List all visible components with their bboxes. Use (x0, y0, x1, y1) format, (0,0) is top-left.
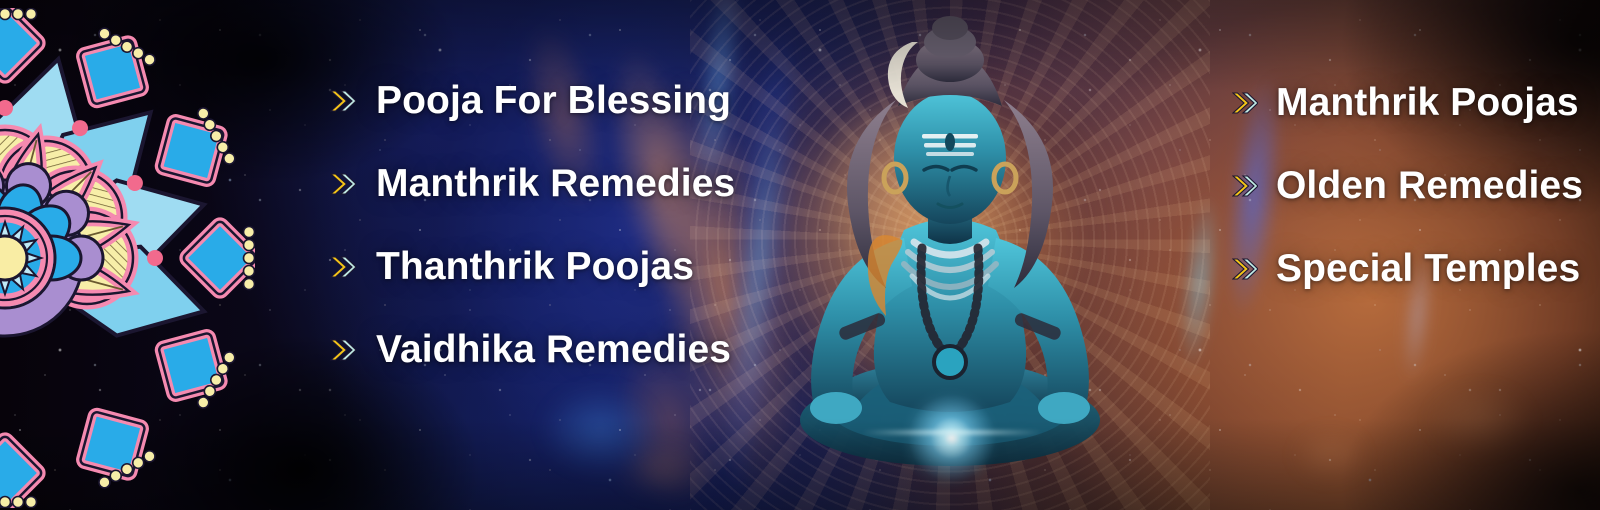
double-chevron-icon (1232, 91, 1258, 115)
double-chevron-icon (330, 338, 356, 362)
banner-root: Pooja For Blessing Manthrik Remedies Tha… (0, 0, 1600, 510)
double-chevron-icon (330, 172, 356, 196)
list-item[interactable]: Manthrik Poojas (1232, 80, 1572, 125)
double-chevron-icon (330, 89, 356, 113)
list-item[interactable]: Olden Remedies (1232, 163, 1572, 208)
list-item-label: Manthrik Poojas (1276, 83, 1579, 122)
mandala-icon (0, 8, 255, 508)
list-item[interactable]: Special Temples (1232, 246, 1572, 291)
list-item[interactable]: Thanthrik Poojas (330, 244, 750, 289)
list-item[interactable]: Pooja For Blessing (330, 78, 750, 123)
list-item-label: Pooja For Blessing (376, 81, 731, 120)
energy-bindu-glow (902, 388, 1002, 488)
list-item[interactable]: Vaidhika Remedies (330, 327, 750, 372)
double-chevron-icon (330, 255, 356, 279)
list-item-label: Olden Remedies (1276, 166, 1583, 205)
deity-illustration (690, 0, 1210, 510)
double-chevron-icon (1232, 174, 1258, 198)
double-chevron-icon (1232, 257, 1258, 281)
deity-fractal-mandala (690, 0, 1210, 510)
list-item[interactable]: Manthrik Remedies (330, 161, 750, 206)
service-list-left: Pooja For Blessing Manthrik Remedies Tha… (330, 78, 750, 410)
service-list-right: Manthrik Poojas Olden Remedies Special T… (1232, 80, 1572, 329)
list-item-label: Vaidhika Remedies (376, 330, 731, 369)
shiva-figure-icon (690, 0, 1210, 510)
list-item-label: Special Temples (1276, 249, 1580, 288)
mandala-ornament (0, 8, 255, 508)
list-item-label: Manthrik Remedies (376, 164, 735, 203)
list-item-label: Thanthrik Poojas (376, 247, 694, 286)
